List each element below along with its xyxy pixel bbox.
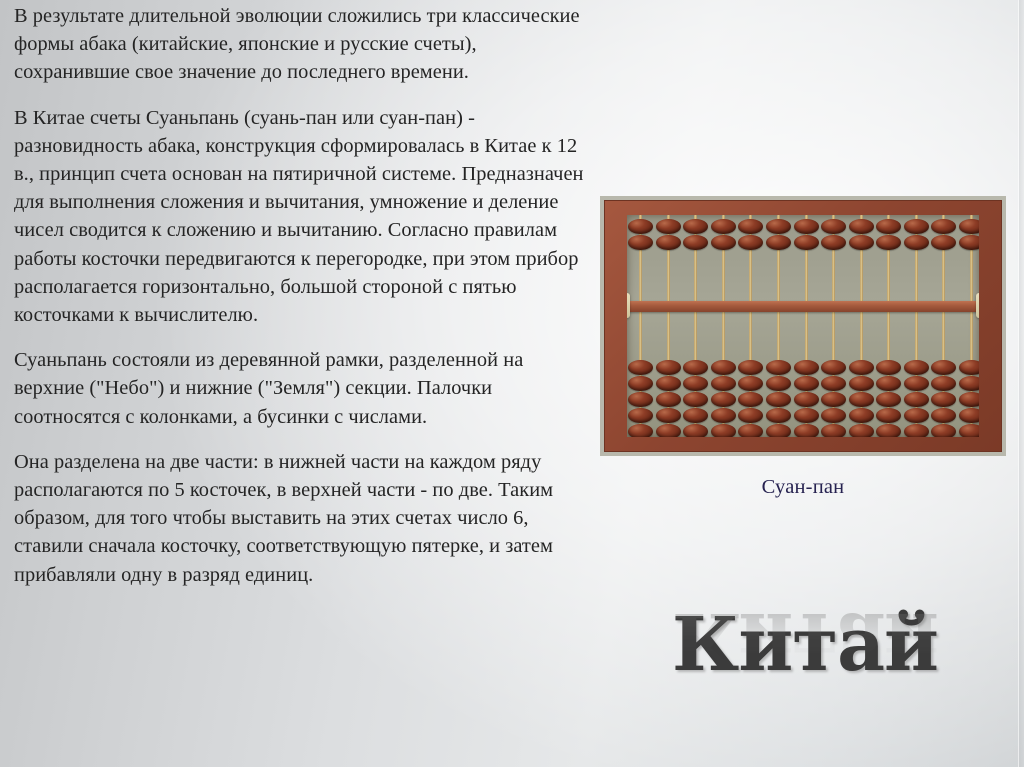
abacus-bead-lower [628, 376, 653, 391]
suanpan-abacus-photo [600, 196, 1006, 456]
abacus-bead-lower [931, 376, 956, 391]
abacus-clasp-left-icon [627, 293, 630, 318]
abacus-bead-upper [959, 219, 979, 234]
abacus-figure [600, 196, 1006, 456]
abacus-bead-lower [711, 376, 736, 391]
abacus-bead-lower [656, 360, 681, 375]
abacus-bead-lower [794, 392, 819, 407]
abacus-wooden-frame [604, 200, 1002, 452]
abacus-bead-lower [876, 376, 901, 391]
slide-title-block: Китай Китай [640, 606, 970, 756]
abacus-bead-upper [794, 235, 819, 250]
abacus-bead-lower [876, 424, 901, 437]
abacus-bead-lower [904, 360, 929, 375]
abacus-bead-upper [876, 219, 901, 234]
abacus-bead-lower [711, 360, 736, 375]
abacus-bead-lower [628, 392, 653, 407]
abacus-bead-upper [931, 219, 956, 234]
abacus-bead-upper [628, 219, 653, 234]
abacus-bead-lower [821, 376, 846, 391]
abacus-bead-lower [931, 360, 956, 375]
abacus-bead-upper [711, 235, 736, 250]
abacus-bead-lower [876, 408, 901, 423]
abacus-bead-lower [821, 408, 846, 423]
abacus-bead-upper [738, 219, 763, 234]
abacus-bead-lower [794, 360, 819, 375]
abacus-bead-lower [766, 360, 791, 375]
abacus-bead-lower [628, 424, 653, 437]
abacus-bead-lower [766, 376, 791, 391]
abacus-bead-lower [959, 392, 979, 407]
abacus-bead-upper [766, 219, 791, 234]
abacus-bead-lower [656, 424, 681, 437]
abacus-bead-lower [904, 408, 929, 423]
abacus-bead-upper [849, 235, 874, 250]
abacus-bead-lower [766, 392, 791, 407]
abacus-bead-lower [711, 408, 736, 423]
abacus-bead-upper [766, 235, 791, 250]
abacus-bead-lower [794, 376, 819, 391]
abacus-bead-lower [683, 408, 708, 423]
paragraph-1: В результате длительной эволюции сложили… [14, 2, 592, 87]
body-text-column: В результате длительной эволюции сложили… [14, 2, 592, 589]
abacus-bead-lower [738, 408, 763, 423]
abacus-bead-lower [794, 408, 819, 423]
abacus-divider-beam [627, 301, 979, 312]
abacus-clasp-right-icon [976, 293, 979, 318]
abacus-caption: Суан-пан [600, 476, 1006, 499]
abacus-bead-upper [904, 235, 929, 250]
abacus-bead-lower [931, 424, 956, 437]
abacus-bead-upper [876, 235, 901, 250]
abacus-bead-lower [931, 408, 956, 423]
abacus-bead-lower [738, 392, 763, 407]
abacus-bead-lower [656, 392, 681, 407]
presentation-slide: В результате длительной эволюции сложили… [0, 0, 1024, 767]
abacus-bead-upper [738, 235, 763, 250]
abacus-bead-upper [849, 219, 874, 234]
abacus-bead-lower [849, 376, 874, 391]
paragraph-3: Суаньпань состояли из деревянной рамки, … [14, 346, 592, 431]
abacus-bead-lower [959, 408, 979, 423]
abacus-bead-lower [821, 360, 846, 375]
abacus-bead-lower [904, 376, 929, 391]
abacus-bead-upper [904, 219, 929, 234]
abacus-bead-lower [711, 392, 736, 407]
paragraph-2: В Китае счеты Суаньпань (суань-пан или с… [14, 104, 592, 330]
abacus-bead-upper [711, 219, 736, 234]
abacus-bead-lower [821, 392, 846, 407]
abacus-bead-upper [794, 219, 819, 234]
abacus-bead-lower [628, 360, 653, 375]
slide-right-edge-line [1018, 0, 1019, 767]
abacus-bead-lower [821, 424, 846, 437]
abacus-bead-upper [821, 235, 846, 250]
abacus-bead-lower [711, 424, 736, 437]
abacus-bead-lower [959, 424, 979, 437]
abacus-bead-lower [849, 360, 874, 375]
abacus-bead-lower [628, 408, 653, 423]
abacus-bead-lower [683, 392, 708, 407]
abacus-bead-lower [959, 360, 979, 375]
abacus-bead-upper [628, 235, 653, 250]
abacus-bead-upper [959, 235, 979, 250]
abacus-bead-lower [931, 392, 956, 407]
abacus-bead-lower [849, 408, 874, 423]
abacus-bead-lower [794, 424, 819, 437]
abacus-bead-lower [904, 392, 929, 407]
abacus-bead-lower [766, 424, 791, 437]
abacus-bead-upper [656, 219, 681, 234]
abacus-bead-lower [683, 424, 708, 437]
abacus-bead-upper [931, 235, 956, 250]
abacus-bead-lower [656, 376, 681, 391]
abacus-bead-upper [821, 219, 846, 234]
abacus-bead-lower [959, 376, 979, 391]
abacus-bead-lower [849, 392, 874, 407]
abacus-bead-lower [683, 376, 708, 391]
abacus-bead-lower [738, 376, 763, 391]
paragraph-4: Она разделена на две части: в нижней час… [14, 448, 592, 589]
abacus-bead-lower [738, 424, 763, 437]
abacus-bead-lower [656, 408, 681, 423]
abacus-bead-lower [738, 360, 763, 375]
abacus-bead-upper [683, 219, 708, 234]
abacus-bead-lower [766, 408, 791, 423]
abacus-bead-lower [876, 392, 901, 407]
page-title-reflection: Китай [640, 600, 970, 678]
slide-right-edge-shade [1019, 0, 1024, 767]
abacus-bead-lower [904, 424, 929, 437]
abacus-bead-lower [683, 360, 708, 375]
abacus-bead-upper [656, 235, 681, 250]
abacus-bead-lower [849, 424, 874, 437]
abacus-bead-lower [876, 360, 901, 375]
abacus-inner-panel [627, 215, 979, 437]
abacus-bead-upper [683, 235, 708, 250]
